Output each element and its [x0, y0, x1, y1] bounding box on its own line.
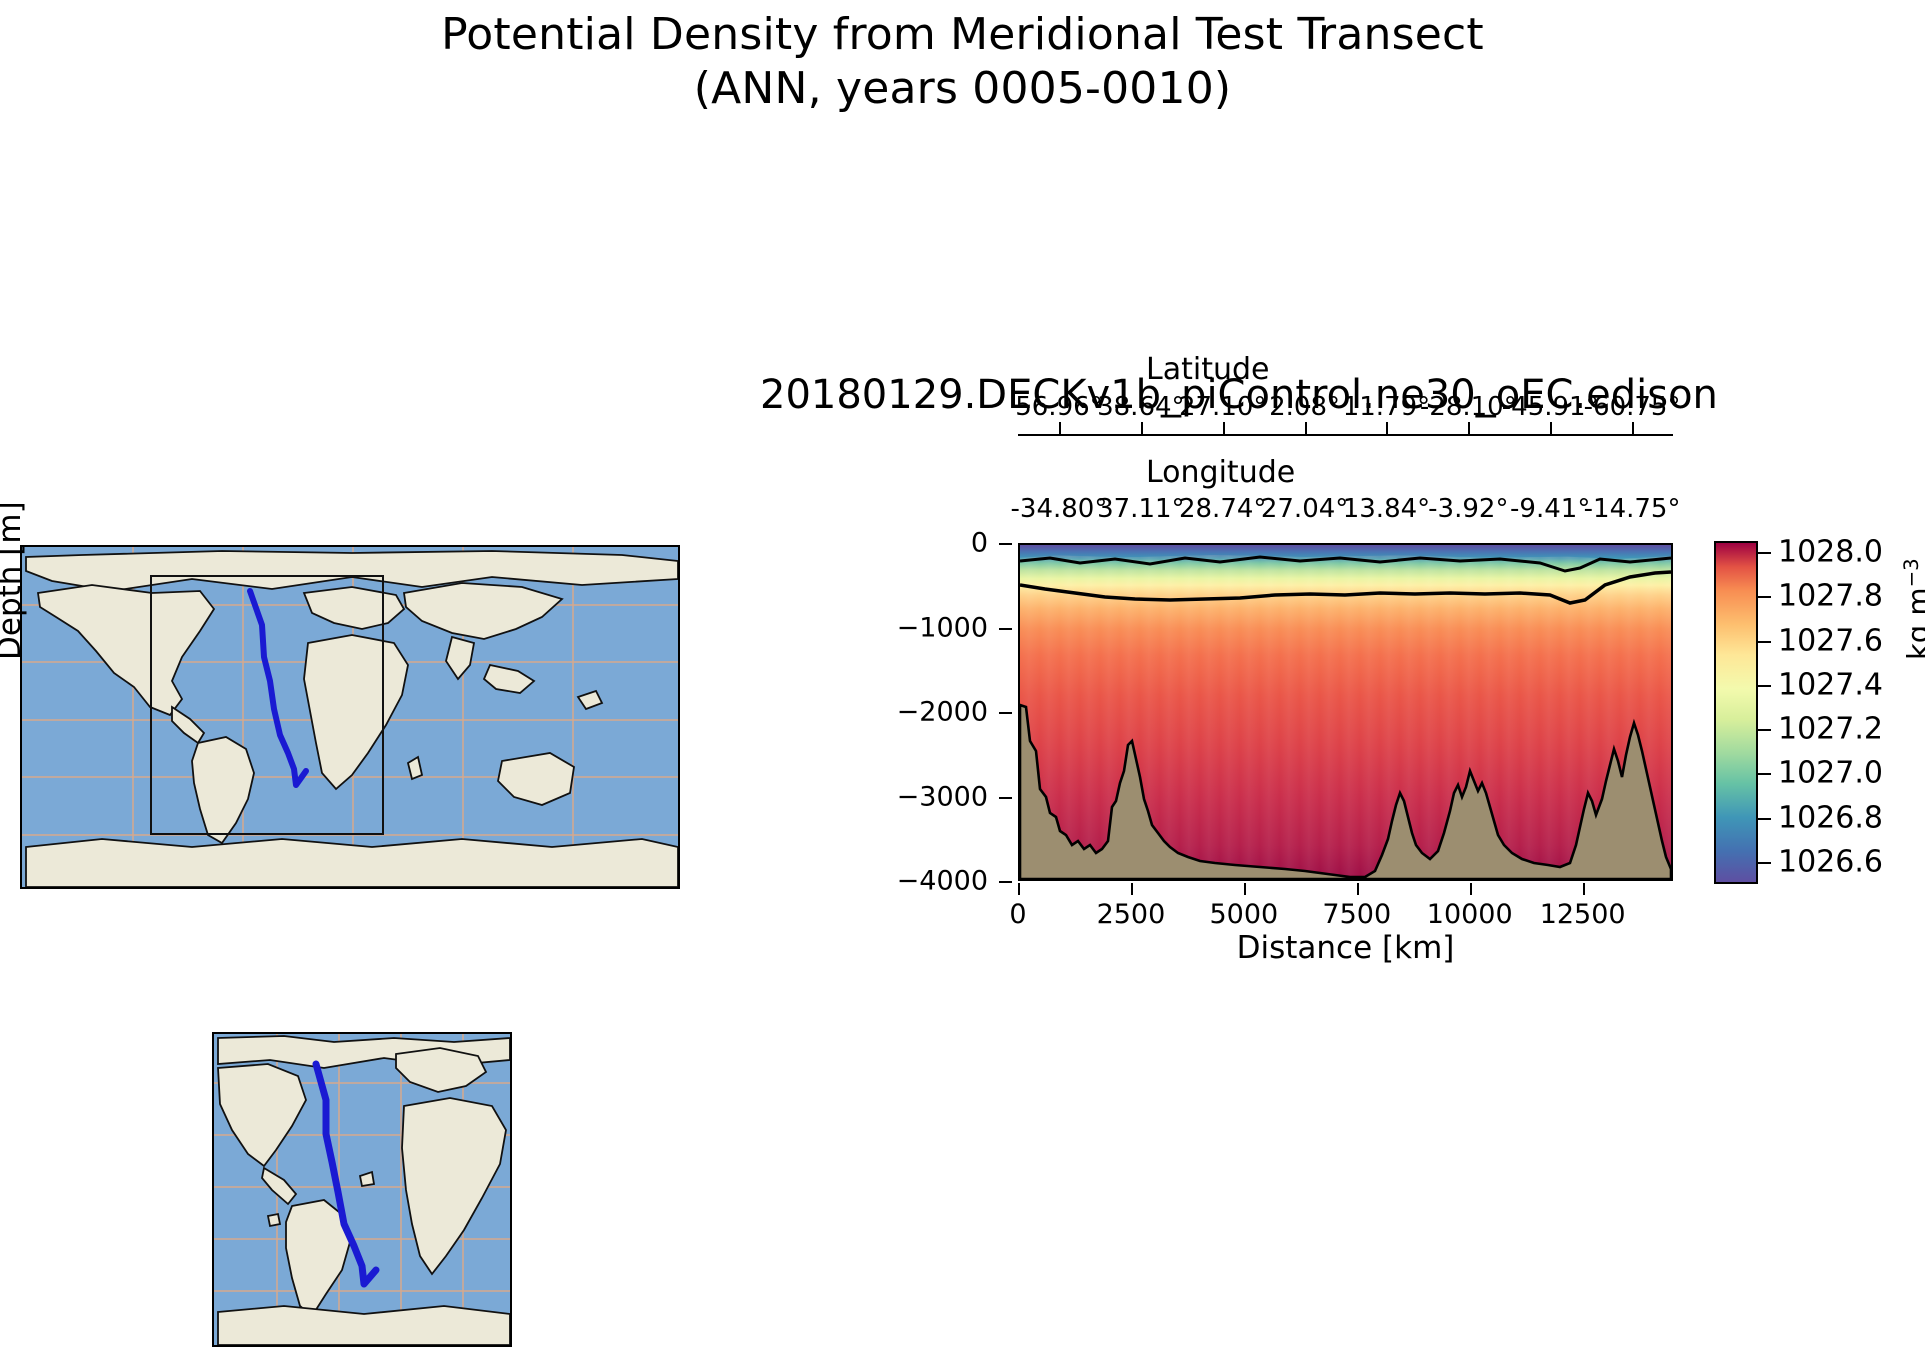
latitude-tick-mark — [1223, 422, 1225, 434]
colorbar-tick-label: 1026.6 — [1778, 844, 1883, 879]
latitude-tick-mark — [1059, 422, 1061, 434]
colorbar-unit-label: kg m−3 — [1900, 558, 1925, 660]
latitude-tick-label: 11.79° — [1343, 392, 1430, 422]
longitude-tick-label: -14.75° — [1584, 494, 1681, 524]
latitude-tick-mark — [1632, 422, 1634, 434]
colorbar-tick-label: 1027.6 — [1778, 623, 1883, 658]
latitude-tick-mark — [1468, 422, 1470, 434]
y-tick-mark — [999, 628, 1012, 630]
latitude-tick-mark — [1305, 422, 1307, 434]
x-tick-mark — [1470, 883, 1472, 895]
colorbar-tick-label: 1027.4 — [1778, 667, 1883, 702]
transect-line — [214, 1034, 512, 1347]
colorbar-tick-mark — [1758, 552, 1771, 554]
page-title: Potential Density from Meridional Test T… — [0, 8, 1925, 115]
x-tick-label: 5000 — [1210, 899, 1279, 930]
latitude-tick-mark — [1550, 422, 1552, 434]
colorbar-tick-label: 1027.8 — [1778, 579, 1883, 614]
latitude-tick-label: -60.75° — [1584, 392, 1681, 422]
y-tick-label: −4000 — [897, 866, 988, 897]
latitude-tick-label: 38.64° — [1097, 392, 1184, 422]
seafloor-bathymetry — [1020, 545, 1671, 879]
y-tick-mark — [999, 797, 1012, 799]
x-axis-label: Distance [km] — [1018, 930, 1673, 966]
x-tick-label: 12500 — [1540, 899, 1626, 930]
longitude-tick-label: 13.84° — [1343, 494, 1430, 524]
colorbar-tick-mark — [1758, 862, 1771, 864]
longitude-tick-label: 27.04° — [1261, 494, 1348, 524]
y-axis-ticks: 0−1000−2000−3000−4000 — [860, 543, 1012, 881]
longitude-tick-label: 37.11° — [1097, 494, 1184, 524]
y-tick-label: 0 — [971, 528, 988, 559]
colorbar-tick-mark — [1758, 596, 1771, 598]
y-tick-mark — [999, 543, 1012, 545]
colorbar-tick-label: 1028.0 — [1778, 535, 1883, 570]
x-tick-label: 7500 — [1322, 899, 1391, 930]
longitude-tick-label: 28.74° — [1179, 494, 1266, 524]
y-tick-mark — [999, 712, 1012, 714]
x-tick-mark — [1583, 883, 1585, 895]
colorbar[interactable] — [1714, 541, 1758, 884]
longitude-tick-label: -34.80° — [1011, 494, 1108, 524]
colorbar-tick-mark — [1758, 641, 1771, 643]
longitude-tick-label: -3.92° — [1428, 494, 1508, 524]
latitude-tick-mark — [1386, 422, 1388, 434]
colorbar-tick-mark — [1758, 729, 1771, 731]
colorbar-tick-label: 1027.0 — [1778, 756, 1883, 791]
colorbar-tick-label: 1026.8 — [1778, 800, 1883, 835]
global-locator-map — [20, 545, 680, 889]
latitude-axis-spine — [1018, 434, 1673, 436]
colorbar-tick-mark — [1758, 773, 1771, 775]
x-tick-mark — [1244, 883, 1246, 895]
x-tick-mark — [1131, 883, 1133, 895]
y-tick-mark — [999, 881, 1012, 883]
latitude-tick-label: 2.08° — [1269, 392, 1340, 422]
regional-locator-map — [212, 1032, 512, 1347]
colorbar-tick-mark — [1758, 818, 1771, 820]
longitude-tick-label: -9.41° — [1510, 494, 1590, 524]
x-tick-label: 10000 — [1427, 899, 1513, 930]
x-tick-label: 2500 — [1097, 899, 1166, 930]
transect-line — [22, 547, 680, 889]
latitude-tick-mark — [1141, 422, 1143, 434]
latitude-tick-labels: 56.96°38.64°27.10°2.08°11.79°-28.10°-45.… — [1018, 392, 1673, 422]
latitude-tick-label: 27.10° — [1179, 392, 1266, 422]
latitude-axis-label: Latitude — [1146, 352, 1269, 387]
transect-heatmap-plot[interactable] — [1018, 543, 1673, 881]
y-tick-label: −3000 — [897, 781, 988, 812]
y-tick-label: −1000 — [897, 612, 988, 643]
x-tick-mark — [1018, 883, 1020, 895]
latitude-tick-label: 56.96° — [1015, 392, 1102, 422]
longitude-axis-label: Longitude — [1146, 455, 1295, 490]
x-tick-mark — [1357, 883, 1359, 895]
colorbar-tick-label: 1027.2 — [1778, 712, 1883, 747]
longitude-tick-labels: -34.80°37.11°28.74°27.04°13.84°-3.92°-9.… — [1018, 494, 1673, 524]
x-tick-label: 0 — [1009, 899, 1026, 930]
y-tick-label: −2000 — [897, 697, 988, 728]
y-axis-label: Depth [m] — [0, 501, 28, 660]
colorbar-tick-mark — [1758, 685, 1771, 687]
